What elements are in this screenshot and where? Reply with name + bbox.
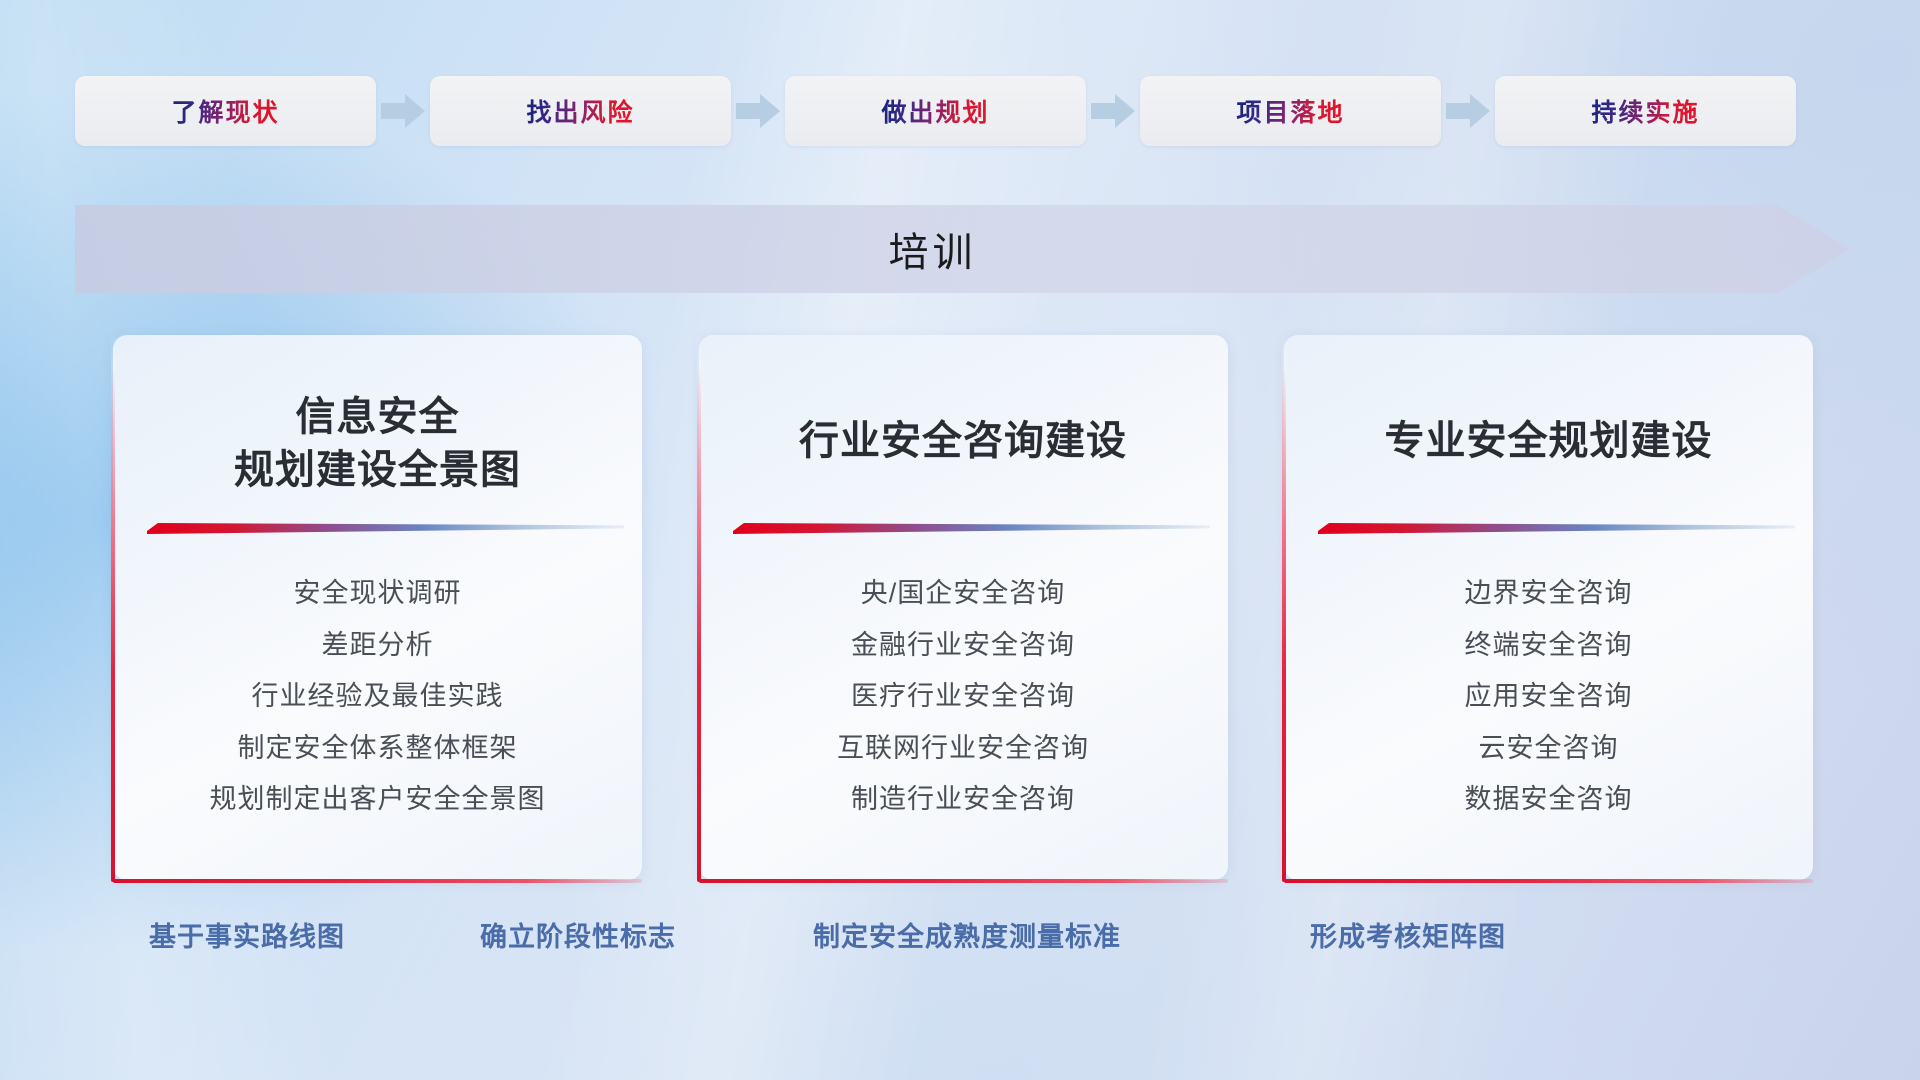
bottom-label-3: 制定安全成熟度测量标准 xyxy=(813,915,1121,954)
list-item: 制造行业安全咨询 xyxy=(851,779,1075,820)
card-3-list: 边界安全咨询 终端安全咨询 应用安全咨询 云安全咨询 数据安全咨询 xyxy=(1284,573,1813,820)
bottom-label-4: 形成考核矩阵图 xyxy=(1310,915,1506,954)
card-2[interactable]: 行业安全咨询建设 xyxy=(699,335,1228,880)
slide-canvas: 了解现状 找出风险 做出规划 项目落地 xyxy=(0,0,1920,1080)
step-label-5: 持续实施 xyxy=(1591,93,1699,129)
card-1[interactable]: 信息安全 规划建设全景图 xyxy=(113,335,642,880)
card-3-title: 专业安全规划建设 xyxy=(1385,415,1713,468)
process-step-row: 了解现状 找出风险 做出规划 项目落地 xyxy=(75,76,1845,146)
list-item: 互联网行业安全咨询 xyxy=(837,728,1089,769)
list-item: 云安全咨询 xyxy=(1479,728,1619,769)
banner-title: 培训 xyxy=(75,205,1850,293)
step-label-4: 项目落地 xyxy=(1236,93,1344,129)
step-arrow-icon-4 xyxy=(1441,94,1495,128)
list-item: 行业经验及最佳实践 xyxy=(252,676,504,717)
list-item: 差距分析 xyxy=(322,625,434,666)
step-arrow-icon-3 xyxy=(1086,94,1140,128)
step-box-3[interactable]: 做出规划 xyxy=(785,76,1086,146)
bottom-label-row: 基于事实路线图 确立阶段性标志 制定安全成熟度测量标准 形成考核矩阵图 xyxy=(0,915,1920,965)
list-item: 安全现状调研 xyxy=(294,573,462,614)
step-box-5[interactable]: 持续实施 xyxy=(1495,76,1796,146)
card-3[interactable]: 专业安全规划建设 xyxy=(1284,335,1813,880)
card-3-accent-bar xyxy=(1318,520,1795,534)
card-2-accent-bar xyxy=(733,520,1210,534)
card-2-list: 央/国企安全咨询 金融行业安全咨询 医疗行业安全咨询 互联网行业安全咨询 制造行… xyxy=(699,573,1228,820)
list-item: 应用安全咨询 xyxy=(1465,676,1633,717)
list-item: 制定安全体系整体框架 xyxy=(238,728,518,769)
step-label-2: 找出风险 xyxy=(526,93,634,129)
step-arrow-icon-2 xyxy=(731,94,785,128)
list-item: 边界安全咨询 xyxy=(1465,573,1633,614)
list-item: 规划制定出客户安全全景图 xyxy=(210,779,546,820)
step-box-1[interactable]: 了解现状 xyxy=(75,76,376,146)
list-item: 数据安全咨询 xyxy=(1465,779,1633,820)
step-box-4[interactable]: 项目落地 xyxy=(1140,76,1441,146)
list-item: 金融行业安全咨询 xyxy=(851,625,1075,666)
list-item: 央/国企安全咨询 xyxy=(861,573,1066,614)
card-row: 信息安全 规划建设全景图 xyxy=(113,335,1813,880)
bottom-label-1: 基于事实路线图 xyxy=(149,915,345,954)
list-item: 终端安全咨询 xyxy=(1465,625,1633,666)
card-1-accent-bar xyxy=(147,520,624,534)
step-label-3: 做出规划 xyxy=(881,93,989,129)
card-1-list: 安全现状调研 差距分析 行业经验及最佳实践 制定安全体系整体框架 规划制定出客户… xyxy=(113,573,642,820)
bottom-label-2: 确立阶段性标志 xyxy=(480,915,676,954)
step-box-2[interactable]: 找出风险 xyxy=(430,76,731,146)
card-2-title: 行业安全咨询建设 xyxy=(799,415,1127,468)
card-1-title: 信息安全 规划建设全景图 xyxy=(234,391,521,497)
training-banner: 培训 xyxy=(75,205,1850,293)
step-label-1: 了解现状 xyxy=(171,93,279,129)
list-item: 医疗行业安全咨询 xyxy=(851,676,1075,717)
step-arrow-icon-1 xyxy=(376,94,430,128)
